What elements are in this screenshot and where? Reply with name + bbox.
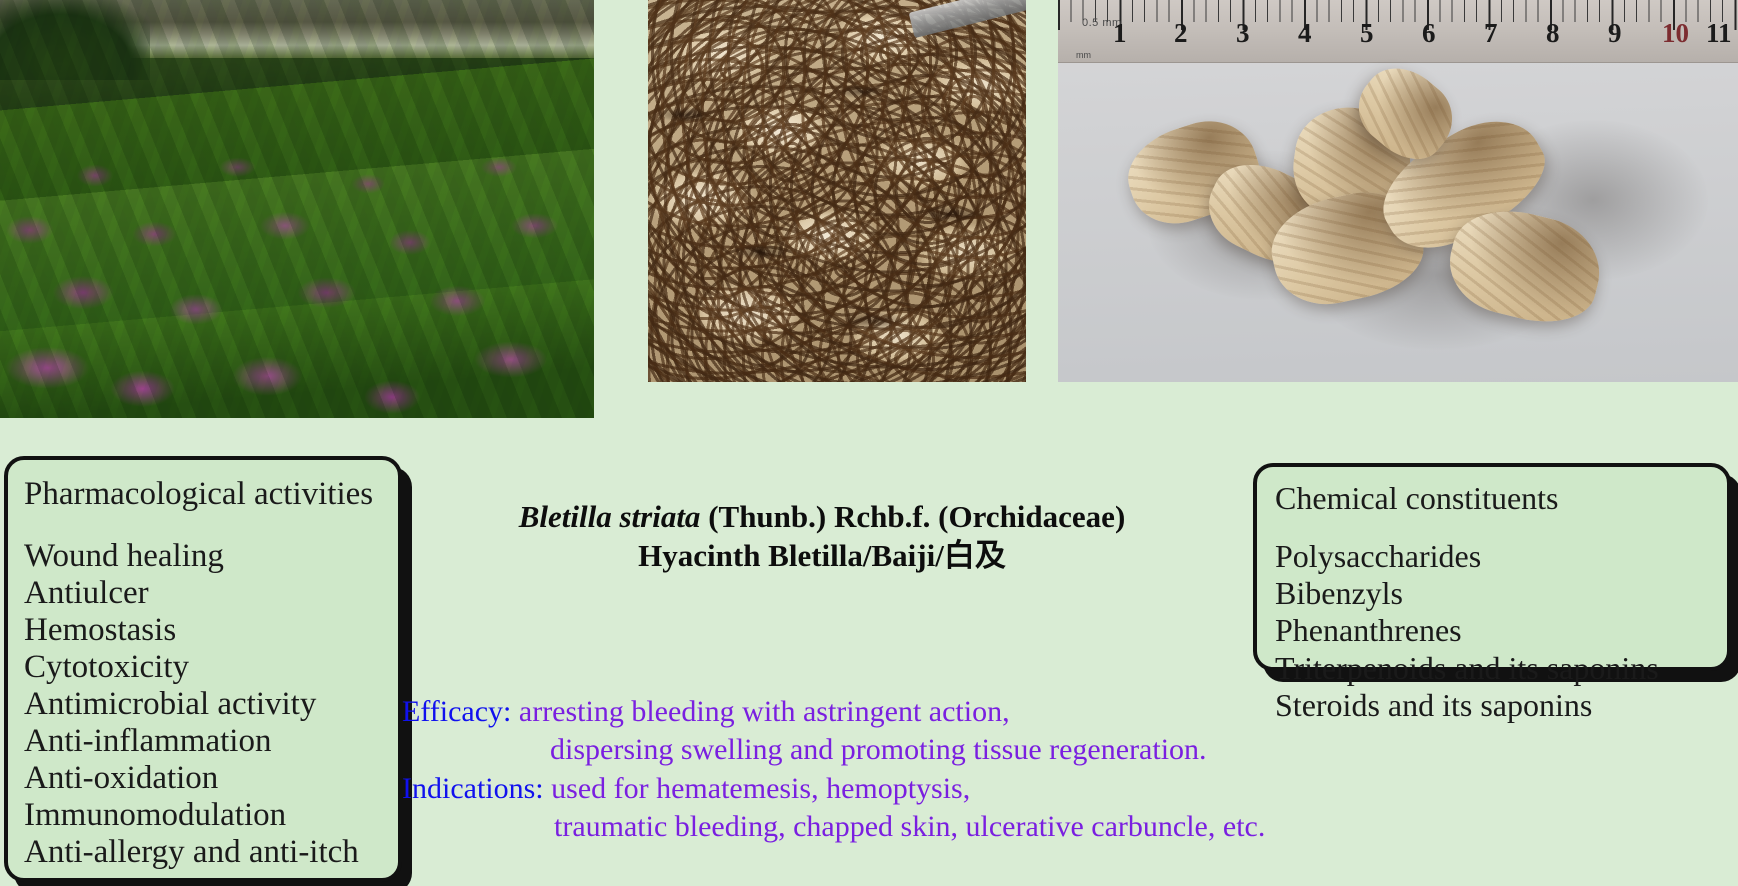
list-item: Phenanthrenes bbox=[1275, 612, 1727, 649]
ruler-number-9: 9 bbox=[1608, 18, 1622, 49]
efficacy-text-1: arresting bleeding with astringent actio… bbox=[511, 695, 1009, 728]
ruler-number-10: 10 bbox=[1662, 18, 1689, 49]
list-item: Immunomodulation bbox=[24, 797, 398, 834]
indications-label: Indications: bbox=[402, 772, 544, 805]
chemical-constituents-heading: Chemical constituents bbox=[1275, 481, 1727, 516]
ruler-number-8: 8 bbox=[1546, 18, 1560, 49]
photo-fresh-pseudobulb-tubers bbox=[648, 0, 1026, 382]
efficacy-text-2: dispersing swelling and promoting tissue… bbox=[550, 733, 1207, 766]
ruler-number-1: 1 bbox=[1113, 18, 1127, 49]
list-item: Antiulcer bbox=[24, 575, 398, 612]
photo-dried-rhizome-with-ruler: 0.5 mm mm 1 2 3 4 5 6 7 8 9 10 11 bbox=[1058, 0, 1738, 382]
indications-text-2: traumatic bleeding, chapped skin, ulcera… bbox=[554, 810, 1265, 843]
efficacy-line-2: dispersing swelling and promoting tissue… bbox=[402, 731, 1402, 769]
pharmacological-activities-list: Wound healing Antiulcer Hemostasis Cytot… bbox=[24, 538, 398, 871]
ruler-number-3: 3 bbox=[1236, 18, 1250, 49]
indications-text-1: used for hematemesis, hemoptysis, bbox=[544, 772, 971, 805]
indications-line-1: Indications: used for hematemesis, hemop… bbox=[402, 770, 1402, 808]
tuber-soil-staining bbox=[648, 0, 1026, 382]
ruler-number-4: 4 bbox=[1298, 18, 1312, 49]
list-item: Antimicrobial activity bbox=[24, 686, 398, 723]
graphical-abstract-canvas: 0.5 mm mm 1 2 3 4 5 6 7 8 9 10 11 bbox=[0, 0, 1738, 886]
efficacy-label: Efficacy: bbox=[402, 695, 511, 728]
list-item: Polysaccharides bbox=[1275, 538, 1727, 575]
species-latin-name: Bletilla striata bbox=[519, 499, 701, 534]
field-foliage-texture bbox=[0, 0, 594, 418]
efficacy-indications-block: Efficacy: arresting bleeding with astrin… bbox=[402, 693, 1402, 847]
species-authority: (Thunb.) Rchb.f. (Orchidaceae) bbox=[700, 499, 1125, 534]
chemical-constituents-box: Chemical constituents Polysaccharides Bi… bbox=[1253, 463, 1731, 671]
ruler-number-7: 7 bbox=[1484, 18, 1498, 49]
list-item: Hemostasis bbox=[24, 612, 398, 649]
ruler: 0.5 mm mm 1 2 3 4 5 6 7 8 9 10 11 bbox=[1058, 0, 1738, 63]
ruler-number-11: 11 bbox=[1706, 18, 1732, 49]
indications-line-2: traumatic bleeding, chapped skin, ulcera… bbox=[402, 808, 1402, 846]
pharmacological-activities-box: Pharmacological activities Wound healing… bbox=[4, 456, 402, 882]
list-item: Triterpenoids and its saponins bbox=[1275, 650, 1727, 687]
list-item: Cytotoxicity bbox=[24, 649, 398, 686]
species-title: Bletilla striata (Thunb.) Rchb.f. (Orchi… bbox=[402, 498, 1242, 576]
photo-bletilla-flowering-field bbox=[0, 0, 594, 418]
list-item: Bibenzyls bbox=[1275, 575, 1727, 612]
ruler-number-2: 2 bbox=[1174, 18, 1188, 49]
efficacy-line-1: Efficacy: arresting bleeding with astrin… bbox=[402, 693, 1402, 731]
ruler-number-6: 6 bbox=[1422, 18, 1436, 49]
list-item: Anti-oxidation bbox=[24, 760, 398, 797]
species-title-line-1: Bletilla striata (Thunb.) Rchb.f. (Orchi… bbox=[402, 498, 1242, 537]
ruler-number-row: 1 2 3 4 5 6 7 8 9 10 11 bbox=[1058, 18, 1738, 58]
list-item: Anti-inflammation bbox=[24, 723, 398, 760]
species-common-names: Hyacinth Bletilla/Baiji/白及 bbox=[402, 537, 1242, 576]
ruler-number-5: 5 bbox=[1360, 18, 1374, 49]
pharmacological-activities-heading: Pharmacological activities bbox=[24, 476, 398, 512]
list-item: Anti-allergy and anti-itch bbox=[24, 834, 398, 871]
list-item: Wound healing bbox=[24, 538, 398, 575]
